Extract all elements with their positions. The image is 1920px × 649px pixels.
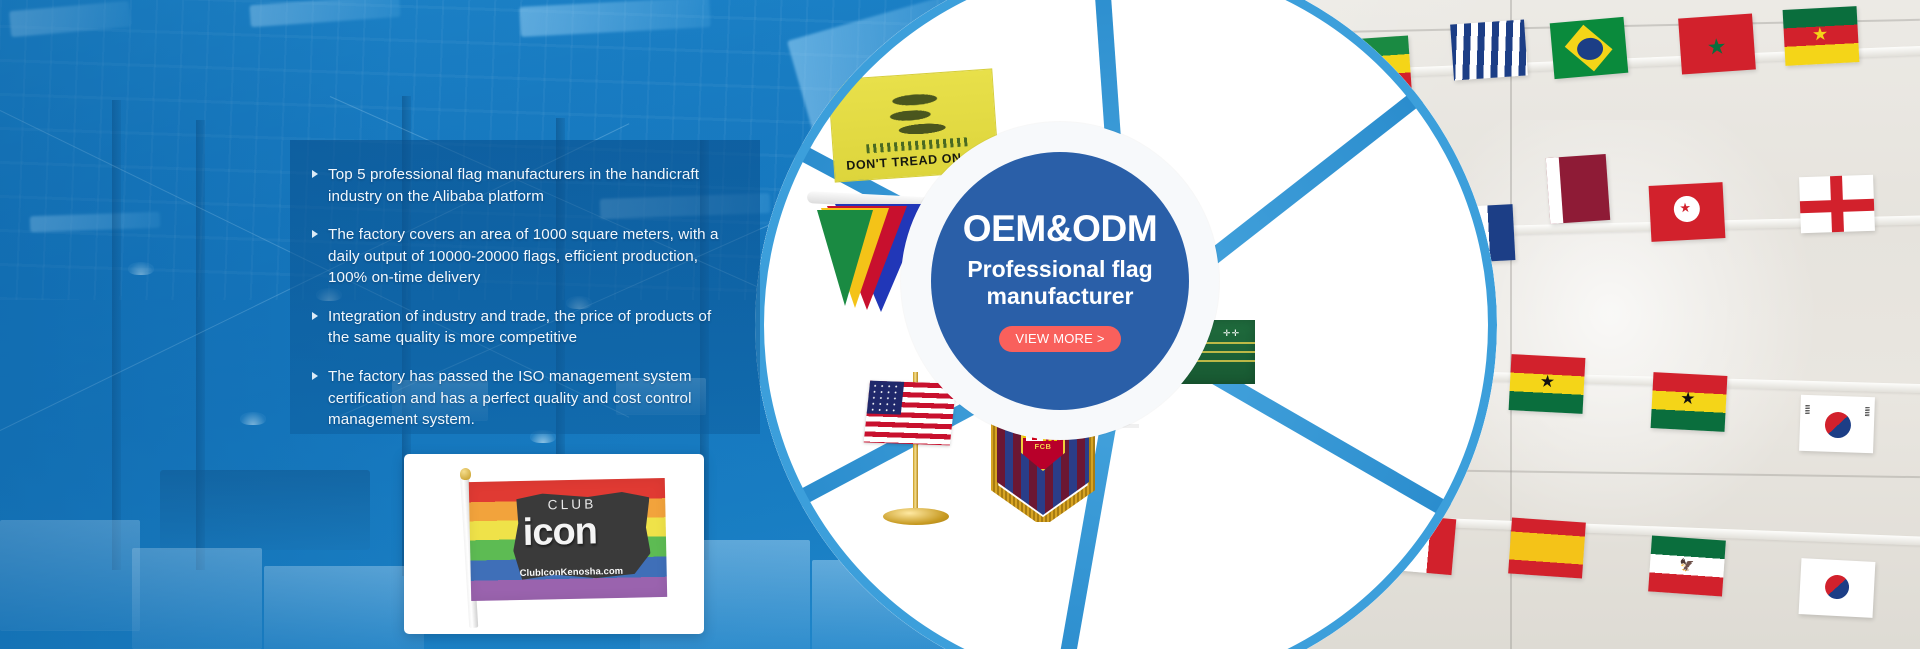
badge-subtitle-line1: Professional flag <box>967 256 1152 283</box>
star-icon: ★ <box>1680 388 1696 409</box>
selling-points-list: Top 5 professional flag manufacturers in… <box>312 164 734 431</box>
bunting-flag-tunisia: ★ <box>1649 182 1726 242</box>
triangle-bullet-icon <box>312 312 318 320</box>
bunting-flag-mexico: 🦅 <box>1648 535 1726 596</box>
cross-horizontal <box>1800 198 1874 213</box>
pennant-green <box>817 210 873 306</box>
flag-base <box>883 508 949 525</box>
star-icon: ★ <box>1679 199 1691 216</box>
list-item: Integration of industry and trade, the p… <box>312 306 734 349</box>
bunting-flag-cameroon: ★ <box>1783 6 1860 66</box>
bunting-flag-qatar <box>1546 154 1610 224</box>
icon-text: icon <box>522 510 597 555</box>
list-item: The factory covers an area of 1000 squar… <box>312 224 734 289</box>
trigram: ≡≡ <box>1805 405 1811 415</box>
star-icon: ★ <box>1539 371 1555 392</box>
badge-subtitle: Professional flag manufacturer <box>967 256 1152 309</box>
korea-taeguk <box>1825 411 1852 438</box>
fcb-label: FCB <box>1023 442 1063 451</box>
triangle-bullet-icon <box>312 372 318 380</box>
rainbow-flag: CLUB icon ClubIconKenosha.com <box>469 478 667 601</box>
list-item-text: The factory has passed the ISO managemen… <box>328 368 692 428</box>
bunting-flag-spain <box>1508 517 1586 578</box>
product-photo-card: CLUB icon ClubIconKenosha.com <box>404 454 704 634</box>
korea-taeguk <box>1825 574 1850 599</box>
usa-flag <box>864 381 957 446</box>
triangle-bullet-icon <box>312 170 318 178</box>
oem-odm-badge: OEM&ODM Professional flag manufacturer V… <box>931 152 1189 410</box>
badge-subtitle-line2: manufacturer <box>967 283 1152 310</box>
usa-canton <box>867 381 905 415</box>
website-text: ClubIconKenosha.com <box>520 565 624 578</box>
list-item-text: Top 5 professional flag manufacturers in… <box>328 166 699 205</box>
triangle-bullet-icon <box>312 230 318 238</box>
bunting-flag-ghana: ★ <box>1509 354 1586 414</box>
star-icon: ★ <box>1811 23 1828 45</box>
view-more-button[interactable]: VIEW MORE > <box>999 326 1120 352</box>
list-item-text: Integration of industry and trade, the p… <box>328 308 711 347</box>
club-icon-flag-photo: CLUB icon ClubIconKenosha.com <box>444 468 682 628</box>
trigram: ≡≡ <box>1865 407 1871 417</box>
badge-title: OEM&ODM <box>963 210 1158 247</box>
selling-points-panel: Top 5 professional flag manufacturers in… <box>290 140 760 434</box>
bunting-flag-korea-2 <box>1799 558 1876 618</box>
bunting-flag-england <box>1799 175 1875 234</box>
promo-banner: ★ ★ ★ ★ <box>0 0 1920 649</box>
bunting-flag-korea: ≡≡ ≡≡ <box>1799 395 1875 454</box>
flag-pole-finial <box>460 468 471 480</box>
bunting-flag-morocco: ★ <box>1678 13 1756 74</box>
bunting-flag-guinea: ★ <box>1651 372 1728 432</box>
bunting-flag-brazil <box>1550 17 1629 79</box>
list-item: The factory has passed the ISO managemen… <box>312 366 734 431</box>
list-item-text: The factory covers an area of 1000 squar… <box>328 226 719 286</box>
star-icon: ★ <box>1706 33 1728 60</box>
usa-stars <box>869 383 903 413</box>
eagle-icon: 🦅 <box>1679 558 1695 573</box>
stars-cluster-icon: ✛✛ <box>1223 328 1240 339</box>
list-item: Top 5 professional flag manufacturers in… <box>312 164 734 207</box>
